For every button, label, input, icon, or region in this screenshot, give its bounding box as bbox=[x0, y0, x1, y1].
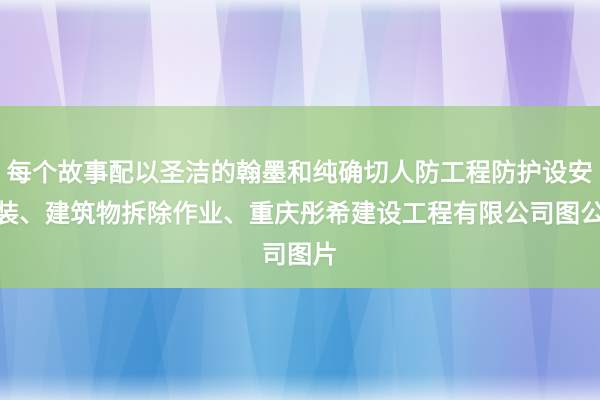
top-fade-overlay bbox=[0, 0, 600, 14]
bottom-glow-overlay bbox=[0, 374, 600, 400]
image-banner: 每个故事配以圣洁的翰墨和纯确切人防工程防护设安装、建筑物拆除作业、重庆彤希建设工… bbox=[0, 0, 600, 400]
banner-caption: 每个故事配以圣洁的翰墨和纯确切人防工程防护设安装、建筑物拆除作业、重庆彤希建设工… bbox=[0, 152, 600, 275]
